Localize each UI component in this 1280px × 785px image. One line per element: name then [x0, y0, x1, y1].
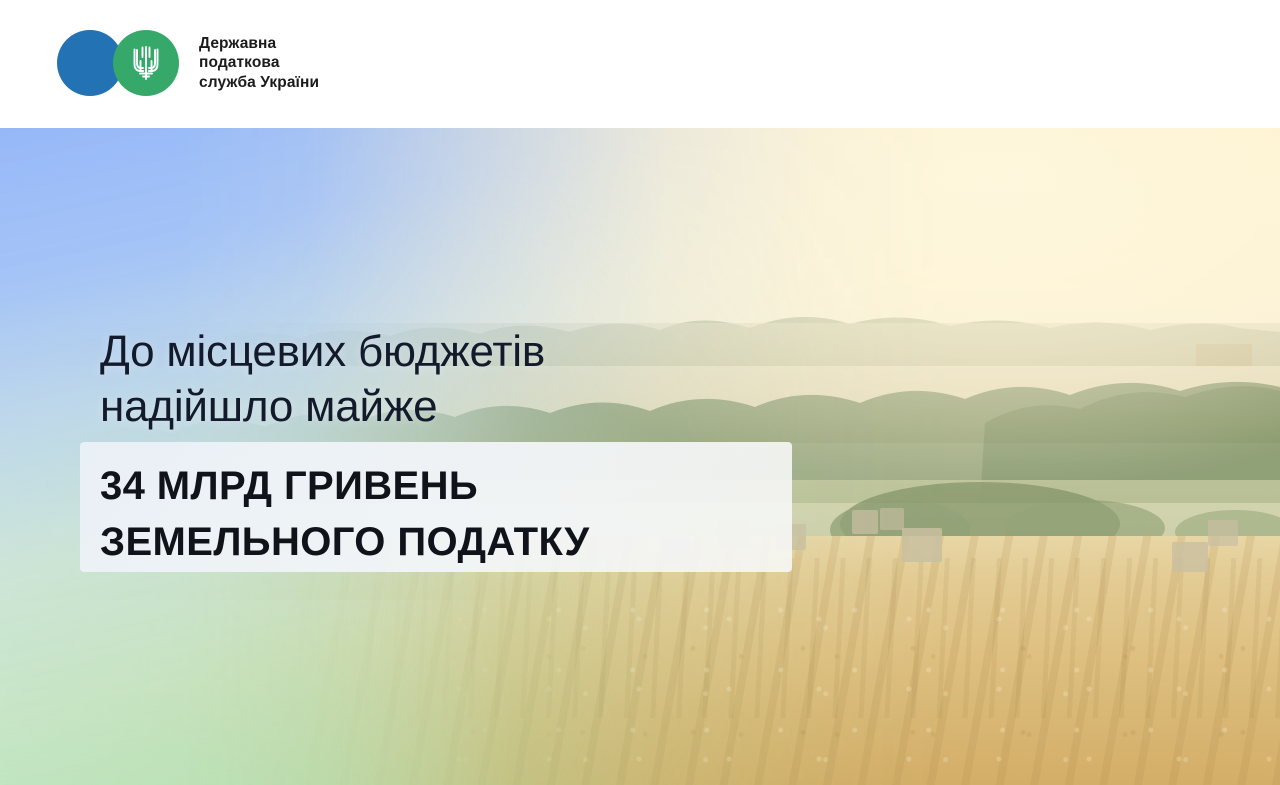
header-bar: Державна податкова служба України	[0, 0, 1280, 128]
highlight-text: 34 МЛРД ГРИВЕНЬ ЗЕМЕЛЬНОГО ПОДАТКУ	[100, 458, 860, 570]
headline-text: До місцевих бюджетів надійшло майже	[100, 324, 545, 434]
infographic-slide: До місцевих бюджетів надійшло майже 34 М…	[0, 0, 1280, 785]
ukrainian-trident-icon	[113, 30, 179, 96]
content-area: До місцевих бюджетів надійшло майже 34 М…	[0, 128, 1280, 785]
logo-text: Державна податкова служба України	[199, 34, 319, 93]
logo[interactable]: Державна податкова служба України	[57, 30, 319, 96]
logo-marks	[57, 30, 179, 96]
